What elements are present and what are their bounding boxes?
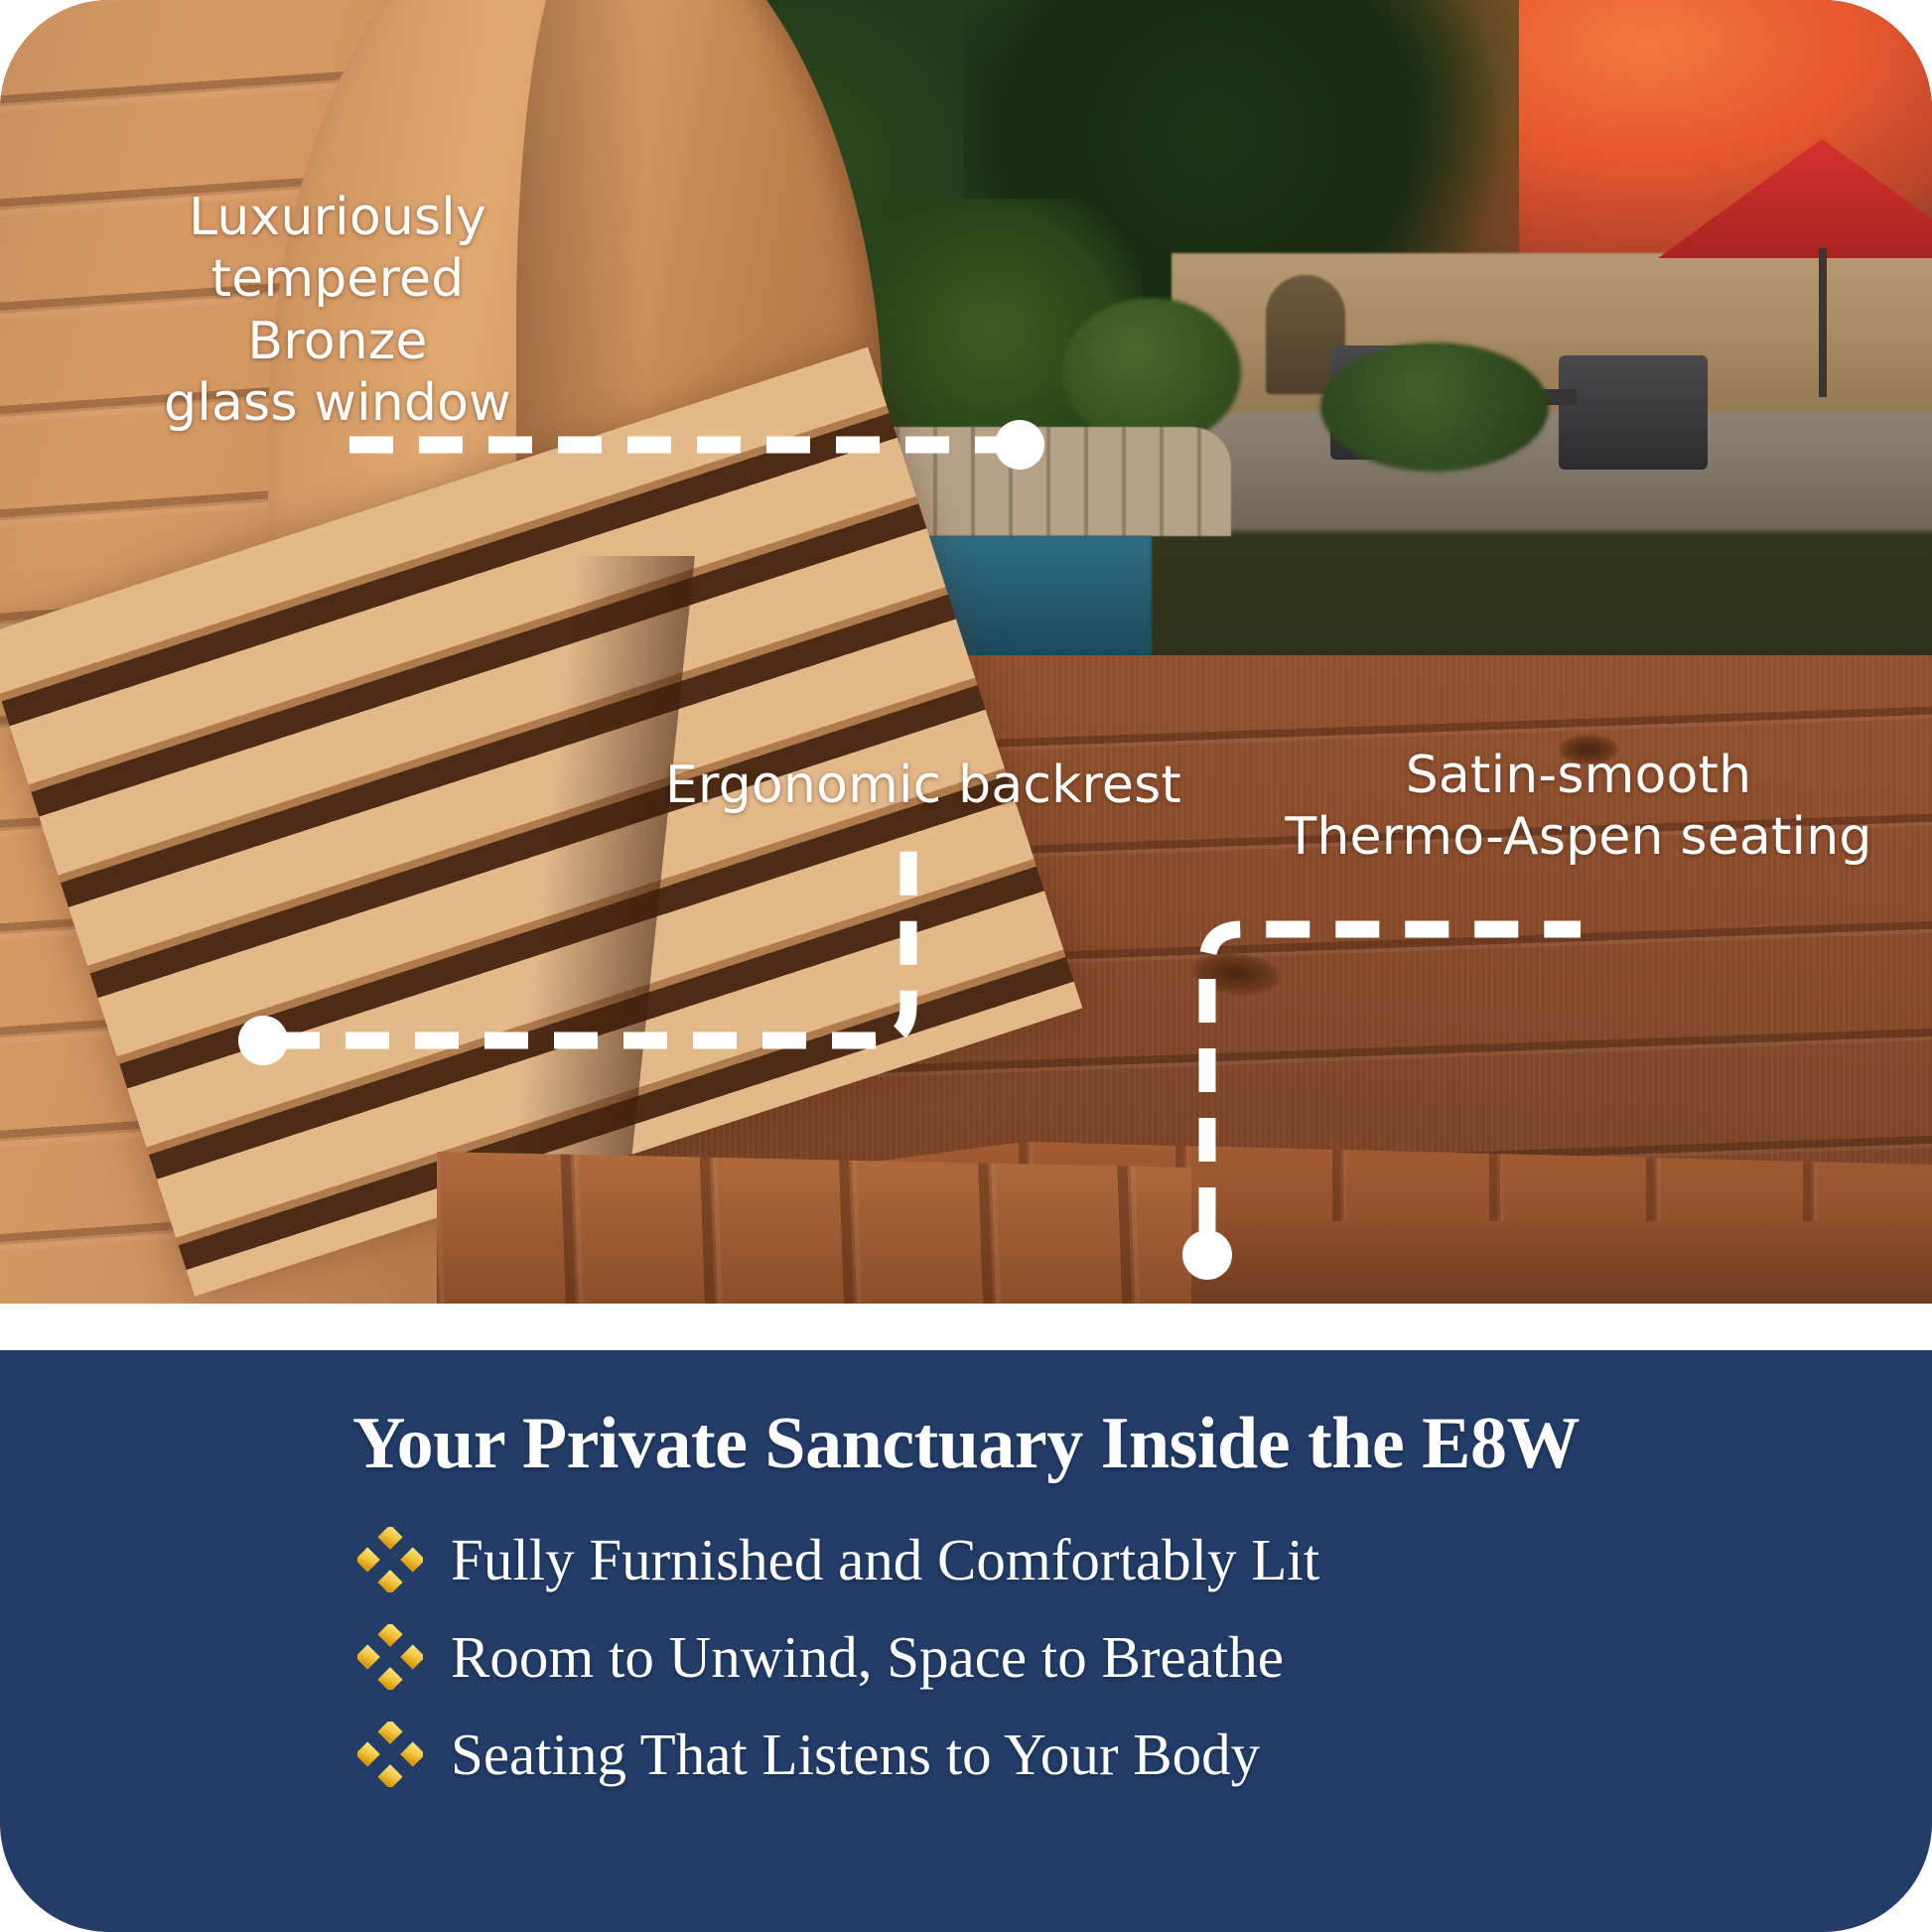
- four-diamond-icon: [357, 1624, 423, 1690]
- leader-dot-seating: [1182, 1230, 1232, 1280]
- leader-line-seating: [1207, 929, 1581, 1231]
- list-item-label: Seating That Listens to Your Body: [451, 1725, 1260, 1784]
- list-item: Fully Furnished and Comfortably Lit: [0, 1524, 1932, 1595]
- feature-summary-panel: Your Private Sanctuary Inside the E8W: [0, 1350, 1932, 1932]
- four-diamond-icon: [357, 1527, 423, 1592]
- leader-dot-window: [995, 420, 1044, 470]
- panel-title: Your Private Sanctuary Inside the E8W: [0, 1350, 1932, 1486]
- feature-bullet-list: Fully Furnished and Comfortably Lit Room…: [0, 1524, 1932, 1790]
- list-item: Seating That Listens to Your Body: [0, 1719, 1932, 1790]
- product-feature-card: Luxuriously tempered Bronze glass window…: [0, 0, 1932, 1932]
- callout-label-backrest: Ergonomic backrest: [635, 755, 1211, 816]
- list-item-label: Fully Furnished and Comfortably Lit: [451, 1531, 1319, 1589]
- callout-label-seating: Satin-smooth Thermo-Aspen seating: [1251, 745, 1906, 869]
- sauna-interior-photo: Luxuriously tempered Bronze glass window…: [0, 0, 1932, 1304]
- list-item-label: Room to Unwind, Space to Breathe: [451, 1628, 1284, 1687]
- leader-line-backrest: [276, 850, 908, 1040]
- leader-dot-backrest: [238, 1016, 288, 1065]
- callout-label-window: Luxuriously tempered Bronze glass window: [119, 187, 556, 435]
- list-item: Room to Unwind, Space to Breathe: [0, 1621, 1932, 1693]
- four-diamond-icon: [357, 1722, 423, 1787]
